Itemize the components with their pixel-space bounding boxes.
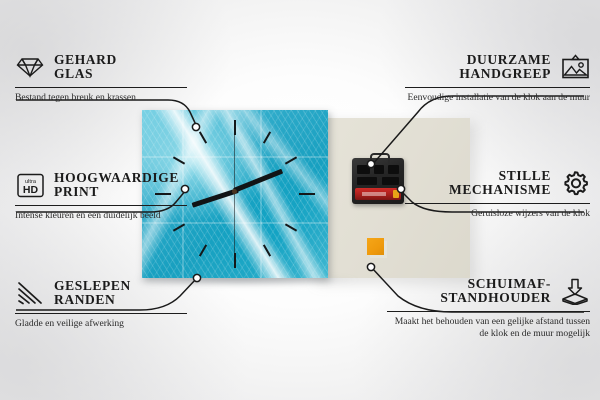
feature-title-line1: DUURZAME <box>405 53 551 67</box>
beveled-edge-icon <box>15 278 45 308</box>
gear-icon <box>560 168 590 198</box>
feature-title-line1: GESLEPEN <box>54 279 131 293</box>
feature-geslepen-randen: GESLEPEN RANDEN Gladde en veilige afwerk… <box>15 278 187 330</box>
feature-divider <box>15 313 187 314</box>
feature-header: GEHARD GLAS <box>15 52 187 82</box>
diamond-icon <box>15 52 45 82</box>
feature-title-line1: GEHARD <box>54 53 117 67</box>
feature-title: HOOGWAARDIGE PRINT <box>54 171 179 199</box>
feature-title-line2: GLAS <box>54 67 117 81</box>
connector-dot-gehard-glas <box>192 123 199 130</box>
feature-description: Intense kleuren en een duidelijk beeld <box>15 210 187 222</box>
feature-divider <box>15 87 187 88</box>
feature-divider <box>405 87 590 88</box>
feature-header: GESLEPEN RANDEN <box>15 278 187 308</box>
feature-title: STILLE MECHANISME <box>405 169 551 197</box>
feature-header: DUURZAME HANDGREEP <box>405 52 590 82</box>
feature-description: Bestand tegen breuk en krassen <box>15 92 187 104</box>
feature-hoogwaardige-print: ultra HD HOOGWAARDIGE PRINT Intense kleu… <box>15 170 187 222</box>
feature-title-line2: RANDEN <box>54 293 131 307</box>
feature-stille-mechanisme: STILLE MECHANISME Geruisloze wijzers van… <box>405 168 590 220</box>
feature-title-line2: STANDHOUDER <box>387 291 551 305</box>
feature-title: GEHARD GLAS <box>54 53 117 81</box>
connector-dot-handgreep <box>367 160 374 167</box>
feature-title-line1: STILLE <box>405 169 551 183</box>
feature-title-line1: HOOGWAARDIGE <box>54 171 179 185</box>
ultra-hd-badge-icon: ultra HD <box>15 170 45 200</box>
feature-divider <box>15 205 187 206</box>
feature-gehard-glas: GEHARD GLAS Bestand tegen breuk en krass… <box>15 52 187 104</box>
infographic-canvas: GEHARD GLAS Bestand tegen breuk en krass… <box>0 0 600 400</box>
feature-title: SCHUIMAF- STANDHOUDER <box>387 277 551 305</box>
connector-dot-mechanisme <box>397 185 404 192</box>
feature-header: ultra HD HOOGWAARDIGE PRINT <box>15 170 187 200</box>
feature-title-line1: SCHUIMAF- <box>387 277 551 291</box>
feature-schuimaf-standhouder: SCHUIMAF- STANDHOUDER Maakt het behouden… <box>387 276 590 339</box>
feature-description: Gladde en veilige afwerking <box>15 318 187 330</box>
feature-description: Geruisloze wijzers van de klok <box>405 208 590 220</box>
picture-frame-hanger-icon <box>560 52 590 82</box>
connector-dot-schuimaf <box>367 263 374 270</box>
feature-title-line2: MECHANISME <box>405 183 551 197</box>
feature-header: STILLE MECHANISME <box>405 168 590 198</box>
connector-handgreep <box>372 96 584 165</box>
feature-description: Maakt het behouden van een gelijke afsta… <box>387 316 590 339</box>
ultra-hd-large-text: HD <box>22 184 38 196</box>
feature-title-line2: HANDGREEP <box>405 67 551 81</box>
feature-title-line2: PRINT <box>54 185 179 199</box>
feature-divider <box>405 203 590 204</box>
press-down-pad-icon <box>560 276 590 306</box>
feature-header: SCHUIMAF- STANDHOUDER <box>387 276 590 306</box>
connector-dot-randen <box>193 274 200 281</box>
feature-divider <box>387 311 590 312</box>
feature-title: GESLEPEN RANDEN <box>54 279 131 307</box>
feature-description: Eenvoudige installatie van de klok aan d… <box>405 92 590 104</box>
feature-duurzame-handgreep: DUURZAME HANDGREEP Eenvoudige installati… <box>405 52 590 104</box>
feature-title: DUURZAME HANDGREEP <box>405 53 551 81</box>
